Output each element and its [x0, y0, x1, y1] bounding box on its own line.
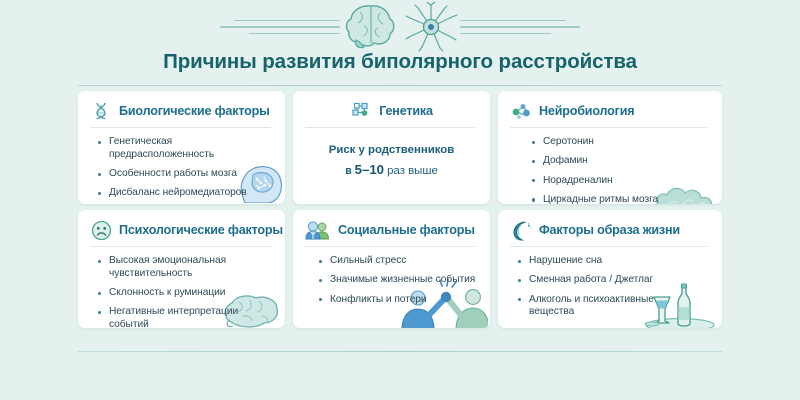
- card-social[interactable]: Социальные факторы Сильный стресс Значим…: [293, 210, 490, 328]
- list-item: Дофамин: [532, 155, 710, 168]
- card-header: Психологические факторы: [90, 219, 273, 247]
- list-item: Склонность к руминации: [98, 287, 273, 300]
- list-item: Сменная работа / Джетлаг: [518, 274, 710, 287]
- card-bullet-list: Генетическая предрасположенность Особенн…: [90, 136, 273, 204]
- card-bullet-list: Сильный стресс Значимые жизненные событи…: [305, 255, 478, 306]
- molecule-icon: [510, 100, 532, 122]
- card-psychological[interactable]: Психологические факторы Высокая эмоциона…: [78, 210, 285, 328]
- decorative-lines-left-icon: [220, 20, 340, 35]
- cards-grid: Биологические факторы Генетическая предр…: [78, 91, 722, 328]
- card-title: Генетика: [379, 104, 433, 118]
- list-item: Норадреналин: [532, 175, 710, 188]
- neuron-icon: [402, 2, 460, 52]
- card-header: Генетика: [305, 100, 478, 128]
- genetics-suffix: раз выше: [384, 165, 438, 177]
- dna-icon: [90, 100, 112, 122]
- genetics-prefix: в: [345, 165, 354, 177]
- pedigree-tree-icon: [350, 100, 372, 122]
- list-item: Алкоголь и психоактивные вещества: [518, 294, 661, 320]
- genetics-risk-value: 5–10: [355, 162, 384, 177]
- sad-face-icon: [90, 219, 112, 241]
- hero-header: Причины развития биполярного расстройств…: [0, 0, 800, 82]
- card-title: Социальные факторы: [338, 223, 475, 237]
- card-genetics[interactable]: Генетика Риск у родственников в 5–10 раз…: [293, 91, 490, 204]
- list-item: Конфликты и потери: [319, 294, 478, 307]
- list-item: Циркадные ритмы мозга: [532, 194, 710, 204]
- card-title: Нейробиология: [539, 104, 634, 118]
- two-people-icon: [305, 219, 331, 241]
- list-item: Серотонин: [532, 136, 710, 149]
- card-title: Психологические факторы: [119, 223, 283, 237]
- genetics-statement-line2: в 5–10 раз выше: [305, 160, 478, 181]
- card-bullet-list: Нарушение сна Сменная работа / Джетлаг А…: [510, 255, 710, 319]
- brain-icon: [340, 2, 402, 52]
- crescent-moon-icon: [510, 219, 532, 241]
- header-divider: [78, 85, 722, 86]
- card-header: Нейробиология: [510, 100, 710, 128]
- list-item: Особенности работы мозга: [98, 168, 273, 181]
- page-title: Причины развития биполярного расстройств…: [0, 50, 800, 74]
- list-item: Дисбаланс нейромедиаторов: [98, 187, 273, 200]
- card-title: Факторы образа жизни: [539, 223, 680, 237]
- list-item: Нарушение сна: [518, 255, 710, 268]
- footer-divider: [78, 351, 722, 353]
- decorative-lines-right-icon: [460, 20, 580, 35]
- card-bullet-list: Серотонин Дофамин Норадреналин Циркадные…: [510, 136, 710, 204]
- hero-artwork: [0, 2, 800, 52]
- card-header: Факторы образа жизни: [510, 219, 710, 247]
- card-header: Биологические факторы: [90, 100, 273, 128]
- list-item: Высокая эмоциональная чувствительность: [98, 255, 273, 281]
- list-item: Негативные интерпретации событий: [98, 306, 273, 328]
- card-title: Биологические факторы: [119, 104, 270, 118]
- list-item: Сильный стресс: [319, 255, 478, 268]
- list-item: Генетическая предрасположенность: [98, 136, 273, 162]
- infographic-root: Причины развития биполярного расстройств…: [0, 0, 800, 400]
- card-header: Социальные факторы: [305, 219, 478, 247]
- genetics-statement-line1: Риск у родственников: [305, 142, 478, 160]
- card-biological[interactable]: Биологические факторы Генетическая предр…: [78, 91, 285, 204]
- list-item: Значимые жизненные события: [319, 274, 478, 287]
- card-bullet-list: Высокая эмоциональная чувствительность С…: [90, 255, 273, 328]
- card-lifestyle[interactable]: Факторы образа жизни Нарушение сна Сменн…: [498, 210, 722, 328]
- card-neurobiology[interactable]: Нейробиология Серотонин Дофамин Норадрен…: [498, 91, 722, 204]
- genetics-statement: Риск у родственников в 5–10 раз выше: [305, 142, 478, 180]
